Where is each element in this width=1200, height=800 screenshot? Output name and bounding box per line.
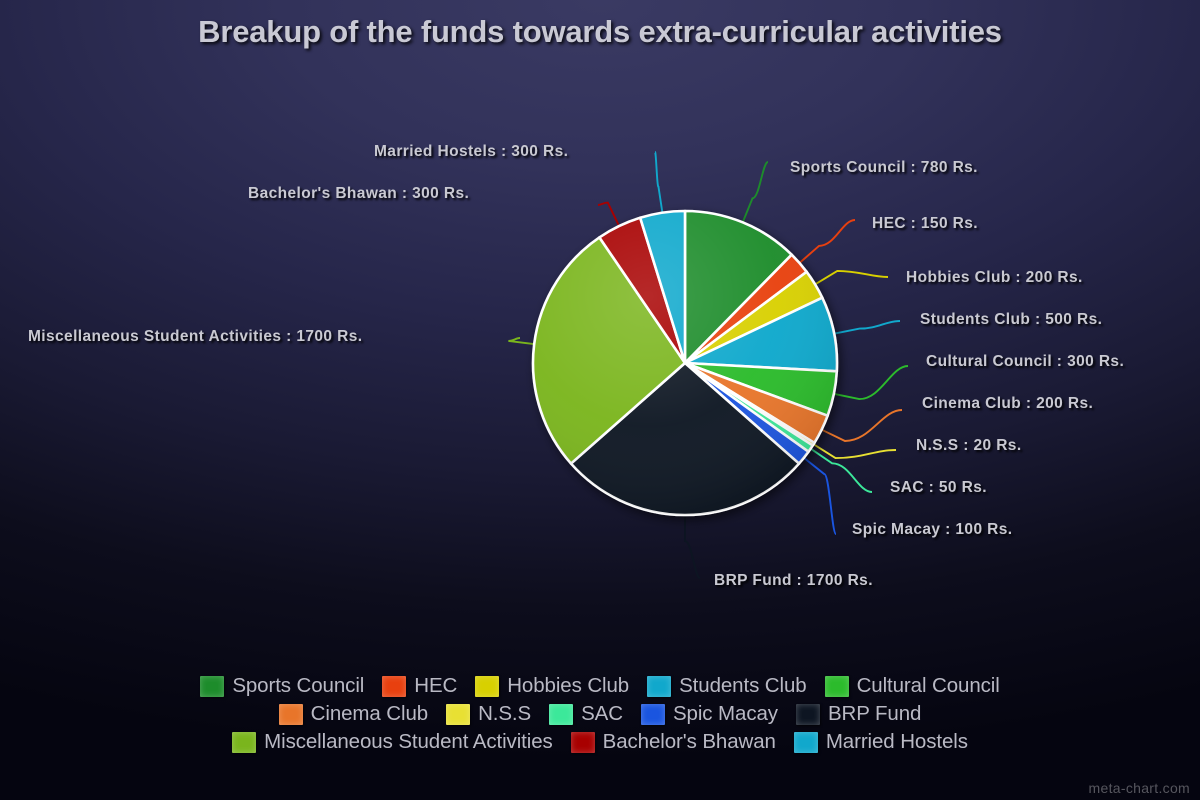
legend-row: Cinema ClubN.S.SSACSpic MacayBRP Fund bbox=[0, 700, 1200, 728]
legend-item-hec[interactable]: HEC bbox=[382, 674, 457, 698]
legend-item-n-s-s[interactable]: N.S.S bbox=[446, 702, 531, 726]
legend-item-students-club[interactable]: Students Club bbox=[647, 674, 806, 698]
legend-row: Miscellaneous Student ActivitiesBachelor… bbox=[0, 728, 1200, 756]
leader-line bbox=[508, 338, 535, 344]
legend-swatch-icon bbox=[571, 732, 595, 753]
legend-item-cultural-council[interactable]: Cultural Council bbox=[825, 674, 1000, 698]
legend-label: Cultural Council bbox=[857, 674, 1000, 698]
legend-swatch-icon bbox=[475, 676, 499, 697]
leader-line bbox=[799, 220, 855, 264]
legend-label: N.S.S bbox=[478, 702, 531, 726]
leader-line bbox=[655, 152, 663, 213]
legend-swatch-icon bbox=[279, 704, 303, 725]
leader-line bbox=[813, 444, 896, 458]
legend-swatch-icon bbox=[382, 676, 406, 697]
legend-label: Bachelor's Bhawan bbox=[603, 730, 776, 754]
pie-slices bbox=[533, 211, 837, 515]
legend-row: Sports CouncilHECHobbies ClubStudents Cl… bbox=[0, 672, 1200, 700]
legend-swatch-icon bbox=[825, 676, 849, 697]
legend-swatch-icon bbox=[647, 676, 671, 697]
legend-item-miscellaneous-student-activities[interactable]: Miscellaneous Student Activities bbox=[232, 730, 553, 754]
legend-swatch-icon bbox=[446, 704, 470, 725]
legend-label: SAC bbox=[581, 702, 623, 726]
callout-married-hostels: Married Hostels : 300 Rs. bbox=[374, 143, 568, 161]
legend-item-spic-macay[interactable]: Spic Macay bbox=[641, 702, 778, 726]
chart-legend: Sports CouncilHECHobbies ClubStudents Cl… bbox=[0, 672, 1200, 756]
callout-brp-fund: BRP Fund : 1700 Rs. bbox=[714, 572, 873, 590]
legend-swatch-icon bbox=[232, 732, 256, 753]
legend-swatch-icon bbox=[796, 704, 820, 725]
legend-swatch-icon bbox=[549, 704, 573, 725]
legend-label: Miscellaneous Student Activities bbox=[264, 730, 553, 754]
legend-label: Students Club bbox=[679, 674, 806, 698]
leader-line bbox=[814, 271, 888, 285]
legend-item-sac[interactable]: SAC bbox=[549, 702, 623, 726]
legend-swatch-icon bbox=[200, 676, 224, 697]
legend-label: Cinema Club bbox=[311, 702, 428, 726]
legend-item-brp-fund[interactable]: BRP Fund bbox=[796, 702, 921, 726]
callout-cultural-council: Cultural Council : 300 Rs. bbox=[926, 353, 1124, 371]
leader-line bbox=[685, 514, 700, 578]
callout-cinema-club: Cinema Club : 200 Rs. bbox=[922, 395, 1093, 413]
leader-line bbox=[833, 321, 900, 334]
legend-item-sports-council[interactable]: Sports Council bbox=[200, 674, 364, 698]
leader-line bbox=[803, 457, 836, 534]
callout-sports-council: Sports Council : 780 Rs. bbox=[790, 159, 978, 177]
callout-nss: N.S.S : 20 Rs. bbox=[916, 437, 1022, 455]
legend-item-bachelor-s-bhawan[interactable]: Bachelor's Bhawan bbox=[571, 730, 776, 754]
legend-label: Spic Macay bbox=[673, 702, 778, 726]
callout-hec: HEC : 150 Rs. bbox=[872, 215, 978, 233]
callout-hobbies-club: Hobbies Club : 200 Rs. bbox=[906, 269, 1083, 287]
legend-swatch-icon bbox=[794, 732, 818, 753]
callout-misc-activities: Miscellaneous Student Activities : 1700 … bbox=[28, 328, 362, 346]
leader-line bbox=[833, 366, 908, 399]
leader-line bbox=[742, 162, 768, 223]
legend-swatch-icon bbox=[641, 704, 665, 725]
legend-item-married-hostels[interactable]: Married Hostels bbox=[794, 730, 968, 754]
legend-item-cinema-club[interactable]: Cinema Club bbox=[279, 702, 428, 726]
leader-line bbox=[598, 203, 619, 227]
chart-canvas: Breakup of the funds towards extra-curri… bbox=[0, 0, 1200, 800]
legend-label: BRP Fund bbox=[828, 702, 921, 726]
legend-label: Married Hostels bbox=[826, 730, 968, 754]
legend-label: Sports Council bbox=[232, 674, 364, 698]
legend-label: HEC bbox=[414, 674, 457, 698]
callout-bachelors-bhawan: Bachelor's Bhawan : 300 Rs. bbox=[248, 185, 469, 203]
leader-line bbox=[821, 410, 902, 441]
callout-students-club: Students Club : 500 Rs. bbox=[920, 311, 1102, 329]
callout-sac: SAC : 50 Rs. bbox=[890, 479, 987, 497]
watermark: meta-chart.com bbox=[1089, 780, 1190, 796]
legend-item-hobbies-club[interactable]: Hobbies Club bbox=[475, 674, 629, 698]
legend-label: Hobbies Club bbox=[507, 674, 629, 698]
callout-spic-macay: Spic Macay : 100 Rs. bbox=[852, 521, 1013, 539]
